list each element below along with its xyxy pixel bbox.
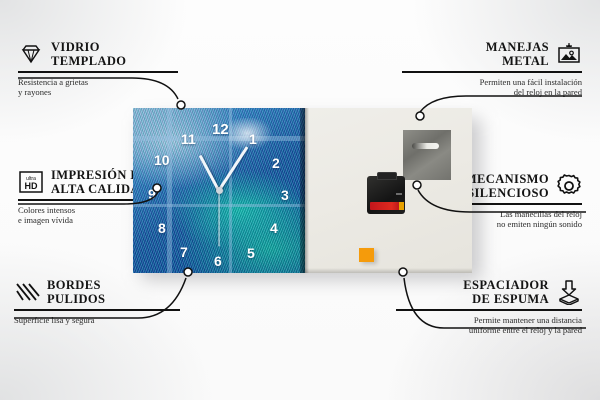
quartz-movement [367, 176, 405, 214]
callout-title: VIDRIO TEMPLADO [51, 40, 126, 68]
hands-center-cap [216, 187, 223, 194]
svg-text:HD: HD [25, 181, 38, 191]
press-down-pad-icon [556, 279, 582, 305]
callout-title: BORDES PULIDOS [47, 278, 105, 306]
callout-header: MANEJAS METAL [402, 40, 582, 68]
callout-title: MANEJAS METAL [486, 40, 549, 68]
dial-number-7: 7 [180, 245, 188, 259]
dial-number-1: 1 [249, 132, 257, 146]
dial-number-2: 2 [272, 156, 280, 170]
foam-spacer [359, 248, 374, 262]
panel-bottom-edge [305, 268, 472, 273]
battery-terminal [399, 202, 404, 210]
callout-title: ESPACIADOR DE ESPUMA [463, 278, 549, 306]
callout-rule [14, 309, 180, 311]
framed-picture-icon [556, 41, 582, 67]
callout-header: VIDRIO TEMPLADO [18, 40, 198, 68]
callout-tempered-glass: VIDRIO TEMPLADO Resistencia a grietas y … [18, 40, 198, 98]
dial-number-11: 11 [181, 132, 196, 146]
callout-polished-edges: BORDES PULIDOS Superficie lisa y segura [14, 278, 194, 325]
callout-header: BORDES PULIDOS [14, 278, 194, 306]
hanger-slot [412, 143, 439, 149]
dial-number-6: 6 [214, 254, 222, 268]
panel-bevel [305, 108, 309, 273]
dial-number-5: 5 [247, 246, 255, 260]
dial-number-12: 12 [212, 122, 229, 137]
infographic-canvas: 12 1 2 3 4 5 6 7 8 9 10 11 [0, 0, 600, 400]
metal-hanger-plate [403, 130, 451, 180]
diagonal-stripes-icon [14, 279, 40, 305]
product-photo: 12 1 2 3 4 5 6 7 8 9 10 11 [133, 108, 472, 273]
movement-tab [377, 172, 397, 180]
callout-header: ESPACIADOR DE ESPUMA [396, 278, 582, 306]
movement-marking [396, 193, 402, 195]
callout-metal-handles: MANEJAS METAL Permiten una fácil instala… [402, 40, 582, 98]
dial-number-9: 9 [148, 187, 156, 201]
dial-number-10: 10 [154, 153, 170, 167]
dial-number-8: 8 [158, 221, 166, 235]
second-hand [218, 191, 219, 247]
callout-foam-spacer: ESPACIADOR DE ESPUMA Permite mantener un… [396, 278, 582, 336]
diamond-icon [18, 41, 44, 67]
battery [370, 202, 401, 210]
dial-number-3: 3 [281, 188, 289, 202]
callout-rule [396, 309, 582, 311]
callout-rule [18, 71, 178, 73]
artwork-gridline [167, 108, 172, 273]
clock-back-view [305, 108, 472, 273]
gear-icon [556, 173, 582, 199]
dial-number-4: 4 [270, 221, 278, 235]
callout-rule [402, 71, 582, 73]
ultra-hd-icon: ultra HD [18, 169, 44, 195]
clock-front-view: 12 1 2 3 4 5 6 7 8 9 10 11 [133, 108, 305, 273]
callout-title: MECANISMO SILENCIOSO [465, 172, 549, 200]
